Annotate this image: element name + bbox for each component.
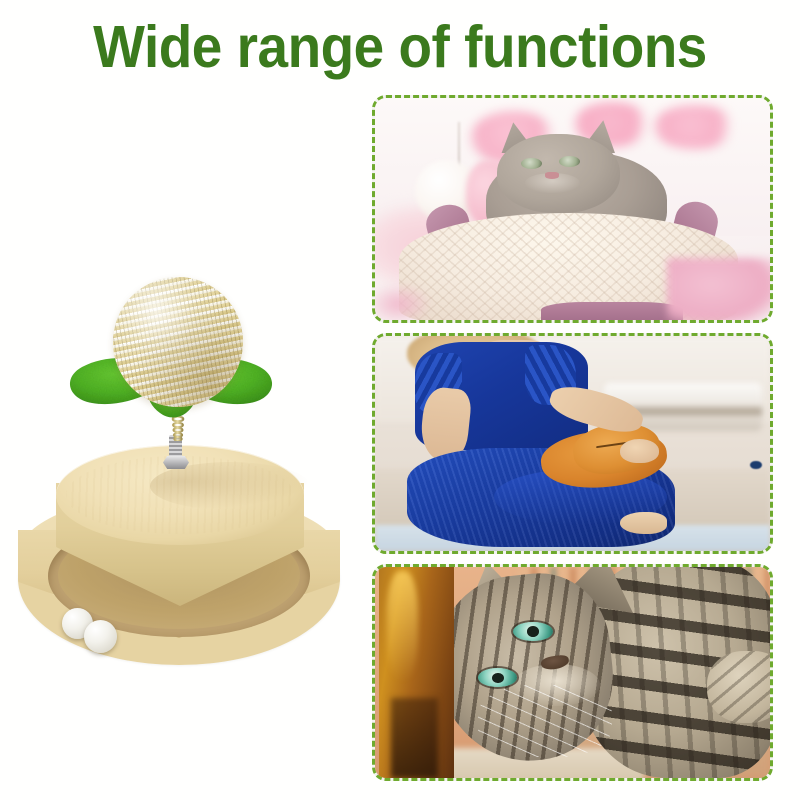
platform-shadow — [150, 462, 310, 510]
kitten-nose — [545, 172, 559, 178]
tabby-pupil-lower — [492, 673, 504, 684]
woven-twine-ball — [113, 277, 243, 407]
post-shadow — [391, 698, 438, 778]
post-highlight — [387, 571, 419, 681]
girl-foot — [620, 512, 667, 534]
background-object — [750, 461, 762, 470]
gallery-photo-tabby-kitten-closeup — [372, 564, 773, 781]
track-ball — [84, 620, 117, 653]
page-title: Wide range of functions — [28, 16, 772, 78]
photo-canvas — [375, 98, 770, 320]
tabby-paw-spots — [707, 651, 773, 723]
basket-bottom — [541, 302, 683, 323]
gallery-photo-girl-with-ginger-cat — [372, 333, 773, 554]
pink-pompom — [652, 105, 739, 149]
ball-sheen — [113, 277, 243, 407]
pink-corner — [372, 284, 430, 323]
product-image — [0, 90, 360, 750]
girl-hand — [620, 439, 660, 463]
photo-canvas — [375, 336, 770, 551]
tabby-pupil-upper — [527, 626, 539, 637]
photo-canvas — [375, 567, 770, 778]
pink-fabric — [667, 258, 773, 323]
tabby-whiskers — [478, 685, 612, 757]
kitten-eye-right — [559, 156, 580, 167]
gallery-photo-kitten-in-basket — [372, 95, 773, 323]
hex-bolt-icon — [163, 456, 189, 469]
